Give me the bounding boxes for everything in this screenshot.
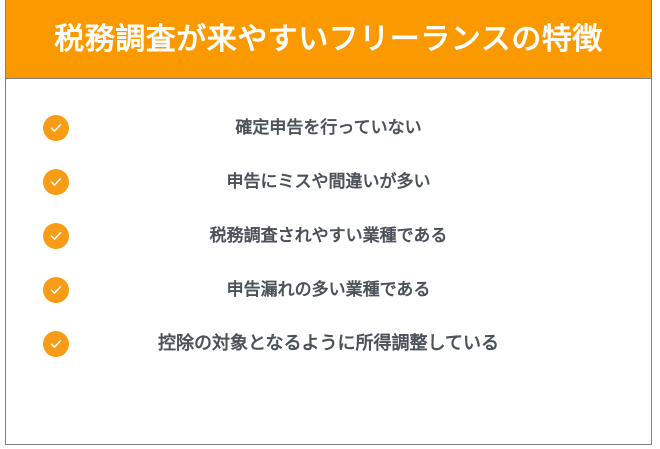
check-circle-icon — [43, 169, 69, 195]
list-item: 控除の対象となるように所得調整している — [6, 317, 651, 371]
list-item-label: 控除の対象となるように所得調整している — [6, 333, 651, 355]
check-circle-icon — [43, 115, 69, 141]
check-circle-icon — [43, 277, 69, 303]
page-title: 税務調査が来やすいフリーランスの特徴 — [54, 23, 602, 56]
check-circle-icon — [43, 223, 69, 249]
check-circle-icon — [43, 331, 69, 357]
list-item-label: 申告にミスや間違いが多い — [6, 172, 651, 192]
list-item: 税務調査されやすい業種である — [6, 209, 651, 263]
list-item-label: 税務調査されやすい業種である — [6, 226, 651, 246]
infographic-card: 税務調査が来やすいフリーランスの特徴 確定申告を行っていない 申告にミスや間違い… — [5, 0, 652, 445]
card-header: 税務調査が来やすいフリーランスの特徴 — [6, 0, 651, 79]
list-item-label: 申告漏れの多い業種である — [6, 280, 651, 300]
list-item-label: 確定申告を行っていない — [6, 118, 651, 138]
list-item: 確定申告を行っていない — [6, 101, 651, 155]
list-item: 申告漏れの多い業種である — [6, 263, 651, 317]
feature-list: 確定申告を行っていない 申告にミスや間違いが多い 税務調査されやすい業種である — [6, 79, 651, 444]
list-item: 申告にミスや間違いが多い — [6, 155, 651, 209]
